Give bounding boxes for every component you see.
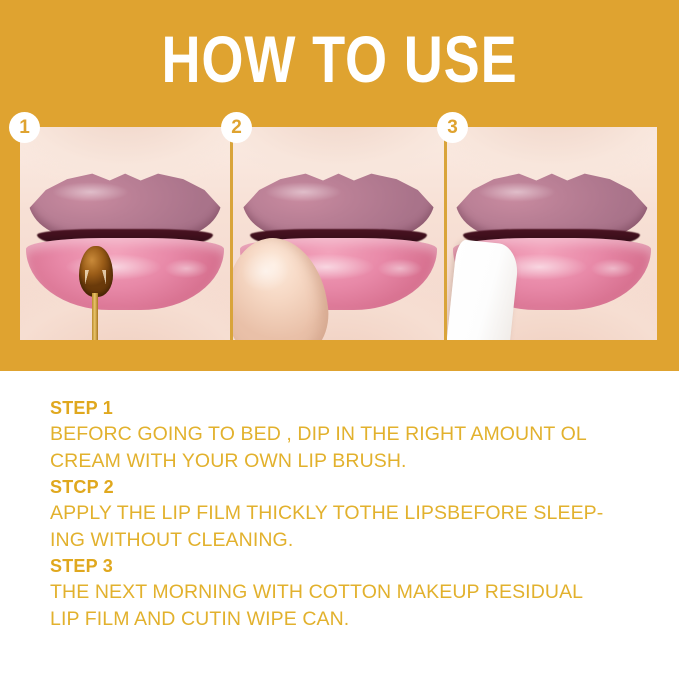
step-3-heading: STEP 3 xyxy=(50,554,650,579)
steps-instructions: STEP 1 BEFORC GOING TO BED , DIP IN THE … xyxy=(50,396,650,633)
cotton-pad-icon xyxy=(447,239,520,340)
step-item-1: STEP 1 BEFORC GOING TO BED , DIP IN THE … xyxy=(50,396,650,475)
upper-lip xyxy=(455,170,649,238)
step-1-heading: STEP 1 xyxy=(50,396,650,421)
step-1-body: BEFORC GOING TO BED , DIP IN THE RIGHT A… xyxy=(50,421,650,475)
step-badge-3: 3 xyxy=(437,112,468,143)
upper-lip xyxy=(28,170,222,238)
step-2-body: APPLY THE LIP FILM THICKLY TOTHE LIPSBEF… xyxy=(50,500,650,554)
upper-lip xyxy=(242,170,436,238)
step-item-2: STCP 2 APPLY THE LIP FILM THICKLY TOTHE … xyxy=(50,475,650,554)
how-to-use-photo-strip xyxy=(20,127,657,340)
step-item-3: STEP 3 THE NEXT MORNING WITH COTTON MAKE… xyxy=(50,554,650,633)
step-badge-1: 1 xyxy=(9,112,40,143)
lips-photo-2 xyxy=(233,127,443,340)
step-badge-2: 2 xyxy=(221,112,252,143)
page-title: HOW TO USE xyxy=(61,26,618,92)
lips-photo-3 xyxy=(447,127,657,340)
step-photo-2 xyxy=(233,127,443,340)
lip-brush-handle-icon xyxy=(92,293,97,340)
step-photo-1 xyxy=(20,127,230,340)
step-3-body: THE NEXT MORNING WITH COTTON MAKEUP RESI… xyxy=(50,579,650,633)
lips-photo-1 xyxy=(20,127,230,340)
step-photo-3 xyxy=(447,127,657,340)
step-2-heading: STCP 2 xyxy=(50,475,650,500)
lip-brush-applicator-icon xyxy=(79,246,113,297)
lower-lip xyxy=(26,238,224,310)
header-banner: HOW TO USE xyxy=(0,0,679,371)
